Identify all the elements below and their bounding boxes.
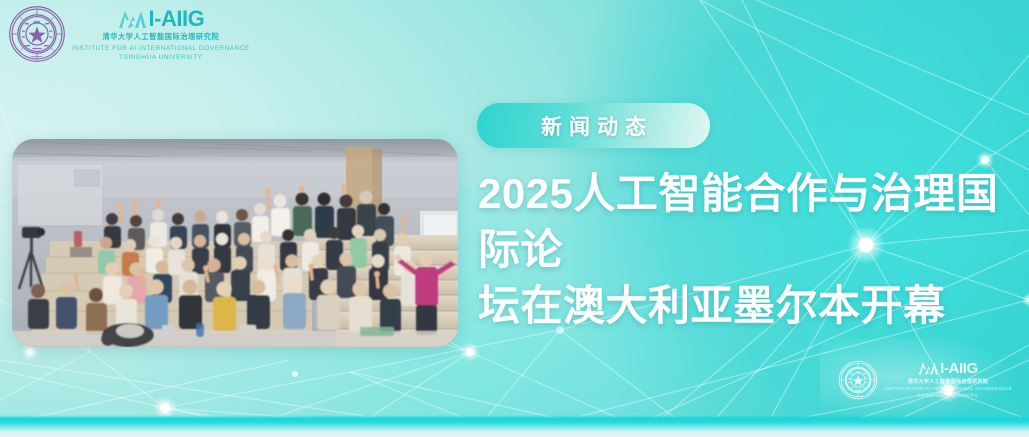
logo-wordmark: I-AIIG: [149, 8, 205, 30]
group-photo-image: [12, 139, 458, 347]
logo-mark-row: I-AIIG: [118, 8, 205, 30]
logo-subtitle-cn: 清华大学人工智能国际治理研究院: [102, 32, 219, 42]
logo-subtitle-en-line1: INSTITUTE FOR AI INTERNATIONAL GOVERNANC…: [72, 44, 250, 53]
news-banner: I-AIIG 清华大学人工智能国际治理研究院 INSTITUTE FOR AI …: [0, 0, 1029, 437]
aiig-peaks-white-icon: [918, 361, 938, 375]
logo-subtitle-en: INSTITUTE FOR AI INTERNATIONAL GOVERNANC…: [72, 44, 250, 63]
headline-line-2: 坛在澳大利亚墨尔本开幕: [478, 278, 1029, 334]
headline: 2025人工智能合作与治理国际论 坛在澳大利亚墨尔本开幕: [478, 166, 1029, 334]
institute-watermark: I-AIIG 清华大学人工智能国际治理研究院 INSTITUTE FOR AI …: [838, 360, 1012, 400]
aiig-peaks-icon: [118, 9, 146, 29]
news-category-badge[interactable]: 新闻动态: [477, 103, 710, 148]
group-photo-card[interactable]: [12, 139, 458, 347]
tsinghua-university-seal-icon: [8, 5, 66, 63]
logo-subtitle-en-line2: TSINGHUA UNIVERSITY: [72, 53, 250, 62]
news-category-badge-label: 新闻动态: [534, 111, 653, 141]
headline-line-1: 2025人工智能合作与治理国际论: [478, 166, 1029, 278]
logo-text-block: I-AIIG 清华大学人工智能国际治理研究院 INSTITUTE FOR AI …: [72, 6, 250, 63]
watermark-mark-row: I-AIIG: [918, 361, 978, 376]
watermark-subtitle-en-line1: INSTITUTE FOR AI INTERNATIONAL GOVERNANC…: [884, 386, 1012, 393]
watermark-wordmark: I-AIIG: [940, 361, 978, 376]
institute-logo-lockup: I-AIIG 清华大学人工智能国际治理研究院 INSTITUTE FOR AI …: [8, 5, 250, 63]
tsinghua-university-seal-white-icon: [838, 360, 878, 400]
watermark-subtitle-en: INSTITUTE FOR AI INTERNATIONAL GOVERNANC…: [884, 386, 1012, 400]
watermark-subtitle-cn: 清华大学人工智能国际治理研究院: [908, 378, 988, 385]
watermark-subtitle-en-line2: TSINGHUA UNIVERSITY: [884, 393, 1012, 400]
watermark-text-block: I-AIIG 清华大学人工智能国际治理研究院 INSTITUTE FOR AI …: [884, 361, 1012, 400]
